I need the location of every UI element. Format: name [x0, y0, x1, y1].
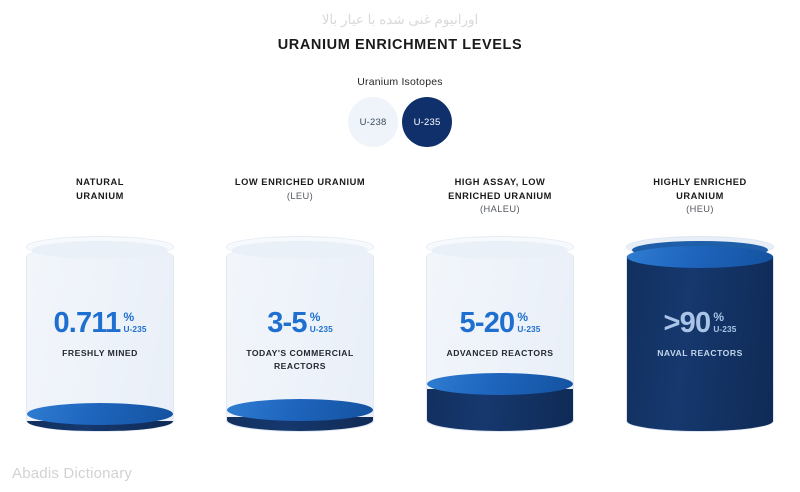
- liquid-fill: [427, 373, 573, 431]
- liquid-fill: [227, 403, 373, 431]
- use-label: TODAY'S COMMERCIAL REACTORS: [226, 347, 374, 372]
- column-heading-line2: URANIUM: [76, 191, 124, 201]
- cylinder-rim-inner: [32, 241, 168, 259]
- column-heading-line2: URANIUM: [676, 191, 724, 201]
- value-row: 3-5 % U-235: [226, 308, 374, 338]
- cylinder-readout: >90 % U-235 NAVAL REACTORS: [626, 308, 774, 360]
- value-number: >90: [664, 308, 711, 338]
- value-row: 0.711 % U-235: [26, 308, 174, 338]
- column-heading-leu: LOW ENRICHED URANIUM (LEU): [235, 176, 365, 220]
- column-heading-line1: HIGHLY ENRICHED: [653, 177, 747, 187]
- column-abbr: (HALEU): [448, 203, 552, 217]
- use-label: FRESHLY MINED: [26, 347, 174, 360]
- watermark: Abadis Dictionary: [12, 465, 132, 482]
- legend-items: U-238 U-235: [0, 97, 800, 147]
- column-heading-line1: HIGH ASSAY, LOW: [455, 177, 546, 187]
- legend: Uranium Isotopes U-238 U-235: [0, 76, 800, 147]
- page-title-persian: اورانیوم غنی شده با عیار بالا: [0, 10, 800, 30]
- use-label-line1: ADVANCED REACTORS: [446, 348, 553, 358]
- column-heading-natural: NATURAL URANIUM: [76, 176, 124, 220]
- enrichment-columns: NATURAL URANIUM 0.711 % U-235: [0, 176, 800, 432]
- legend-title: Uranium Isotopes: [0, 76, 800, 88]
- page-title: URANIUM ENRICHMENT LEVELS: [0, 36, 800, 54]
- legend-item-u238[interactable]: U-238: [348, 97, 398, 147]
- liquid-body: [427, 389, 573, 431]
- column-abbr: (LEU): [235, 190, 365, 204]
- column-low-enriched-uranium: LOW ENRICHED URANIUM (LEU) 3-5 % U-235: [200, 176, 400, 432]
- isotope-label: U-235: [517, 324, 540, 335]
- legend-item-u235[interactable]: U-235: [402, 97, 452, 147]
- isotope-label: U-235: [123, 324, 146, 335]
- use-label-line2: REACTORS: [274, 361, 326, 371]
- use-label-line1: FRESHLY MINED: [62, 348, 138, 358]
- legend-label-u235: U-235: [414, 117, 441, 128]
- use-label: ADVANCED REACTORS: [426, 347, 574, 360]
- cylinder-haleu: 5-20 % U-235 ADVANCED REACTORS: [426, 236, 574, 432]
- value-unit: % U-235: [713, 308, 736, 335]
- cylinder-rim-inner: [432, 241, 568, 259]
- liquid-surface: [227, 399, 373, 421]
- cylinder-heu: >90 % U-235 NAVAL REACTORS: [626, 236, 774, 432]
- liquid-surface: [427, 373, 573, 395]
- column-heading-heu: HIGHLY ENRICHED URANIUM (HEU): [653, 176, 747, 220]
- value-unit: % U-235: [123, 308, 146, 335]
- legend-label-u238: U-238: [360, 117, 387, 128]
- page-header: اورانیوم غنی شده با عیار بالا URANIUM EN…: [0, 0, 800, 54]
- use-label-line1: TODAY'S COMMERCIAL: [246, 348, 354, 358]
- column-heading-line1: LOW ENRICHED URANIUM: [235, 177, 365, 187]
- value-number: 3-5: [267, 308, 307, 338]
- column-heading-line1: NATURAL: [76, 177, 124, 187]
- isotope-label: U-235: [713, 324, 736, 335]
- column-abbr: (HEU): [653, 203, 747, 217]
- column-natural-uranium: NATURAL URANIUM 0.711 % U-235: [0, 176, 200, 432]
- use-label: NAVAL REACTORS: [626, 347, 774, 360]
- percent-symbol: %: [123, 311, 134, 324]
- column-heading-haleu: HIGH ASSAY, LOW ENRICHED URANIUM (HALEU): [448, 176, 552, 220]
- value-unit: % U-235: [517, 308, 540, 335]
- column-haleu: HIGH ASSAY, LOW ENRICHED URANIUM (HALEU)…: [400, 176, 600, 432]
- cylinder-leu: 3-5 % U-235 TODAY'S COMMERCIAL REACTORS: [226, 236, 374, 432]
- cylinder-rim-inner: [232, 241, 368, 259]
- value-row: >90 % U-235: [626, 308, 774, 338]
- percent-symbol: %: [517, 311, 528, 324]
- cylinder-readout: 3-5 % U-235 TODAY'S COMMERCIAL REACTORS: [226, 308, 374, 372]
- value-row: 5-20 % U-235: [426, 308, 574, 338]
- value-number: 5-20: [460, 308, 515, 338]
- column-heu: HIGHLY ENRICHED URANIUM (HEU) >90 % U-23…: [600, 176, 800, 432]
- liquid-surface: [627, 246, 773, 268]
- liquid-surface: [27, 403, 173, 425]
- cylinder-readout: 0.711 % U-235 FRESHLY MINED: [26, 308, 174, 360]
- percent-symbol: %: [713, 311, 724, 324]
- percent-symbol: %: [310, 311, 321, 324]
- use-label-line1: NAVAL REACTORS: [657, 348, 743, 358]
- cylinder-readout: 5-20 % U-235 ADVANCED REACTORS: [426, 308, 574, 360]
- isotope-label: U-235: [310, 324, 333, 335]
- value-number: 0.711: [53, 308, 120, 338]
- value-unit: % U-235: [310, 308, 333, 335]
- liquid-fill: [27, 411, 173, 431]
- cylinder-natural-uranium: 0.711 % U-235 FRESHLY MINED: [26, 236, 174, 432]
- column-heading-line2: ENRICHED URANIUM: [448, 191, 552, 201]
